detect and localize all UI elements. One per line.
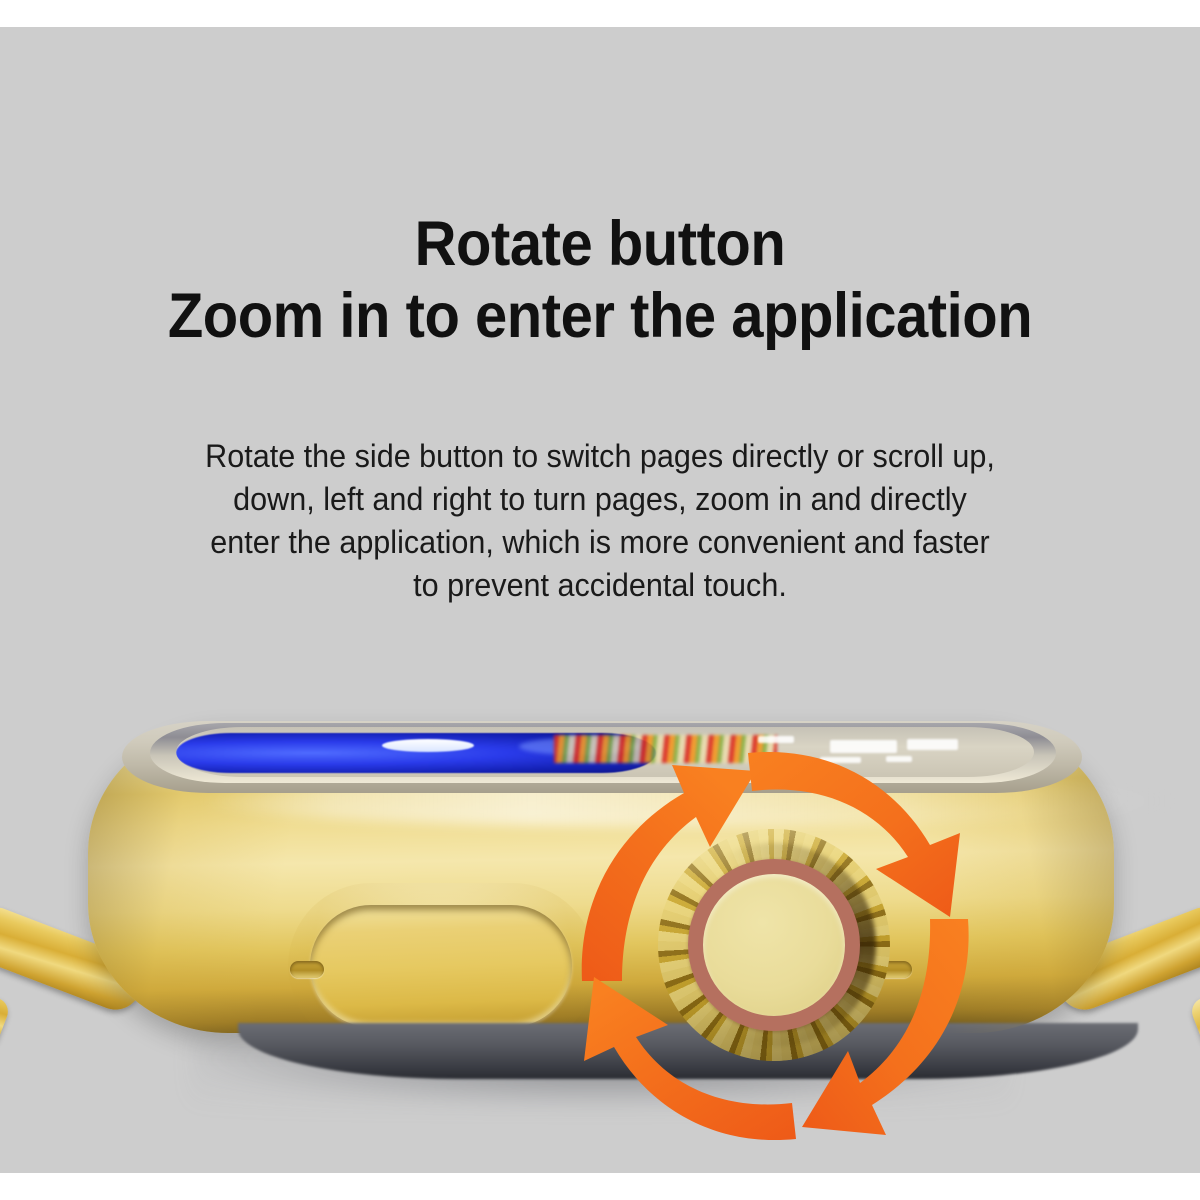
product-marketing-image: Rotate button Zoom in to enter the appli… bbox=[0, 0, 1200, 1200]
display-ui-glyph bbox=[907, 739, 958, 750]
smartwatch-product-photo bbox=[0, 687, 1200, 1157]
page-title-line-2: Zoom in to enter the application bbox=[48, 285, 1152, 348]
side-button[interactable] bbox=[310, 905, 572, 1027]
description-line: enter the application, which is more con… bbox=[130, 521, 1070, 564]
speaker-port bbox=[290, 961, 324, 978]
description-line: to prevent accidental touch. bbox=[130, 564, 1070, 607]
description-line: Rotate the side button to switch pages d… bbox=[130, 435, 1070, 478]
display-ui-glyph bbox=[886, 756, 912, 762]
display-ui-glyph bbox=[830, 740, 897, 753]
display-ui-glyph bbox=[758, 736, 794, 743]
display-ui-elements bbox=[742, 734, 999, 764]
crown-accent-ring bbox=[688, 859, 860, 1031]
image-canvas: Rotate button Zoom in to enter the appli… bbox=[0, 27, 1200, 1173]
page-title-line-1: Rotate button bbox=[48, 213, 1152, 276]
display-ui-glyph bbox=[820, 757, 861, 763]
rotating-crown[interactable] bbox=[658, 829, 890, 1061]
description-line: down, left and right to turn pages, zoom… bbox=[130, 478, 1070, 521]
description-paragraph: Rotate the side button to switch pages d… bbox=[130, 435, 1070, 607]
display-glare bbox=[382, 739, 474, 752]
display-screen[interactable] bbox=[176, 727, 1034, 777]
